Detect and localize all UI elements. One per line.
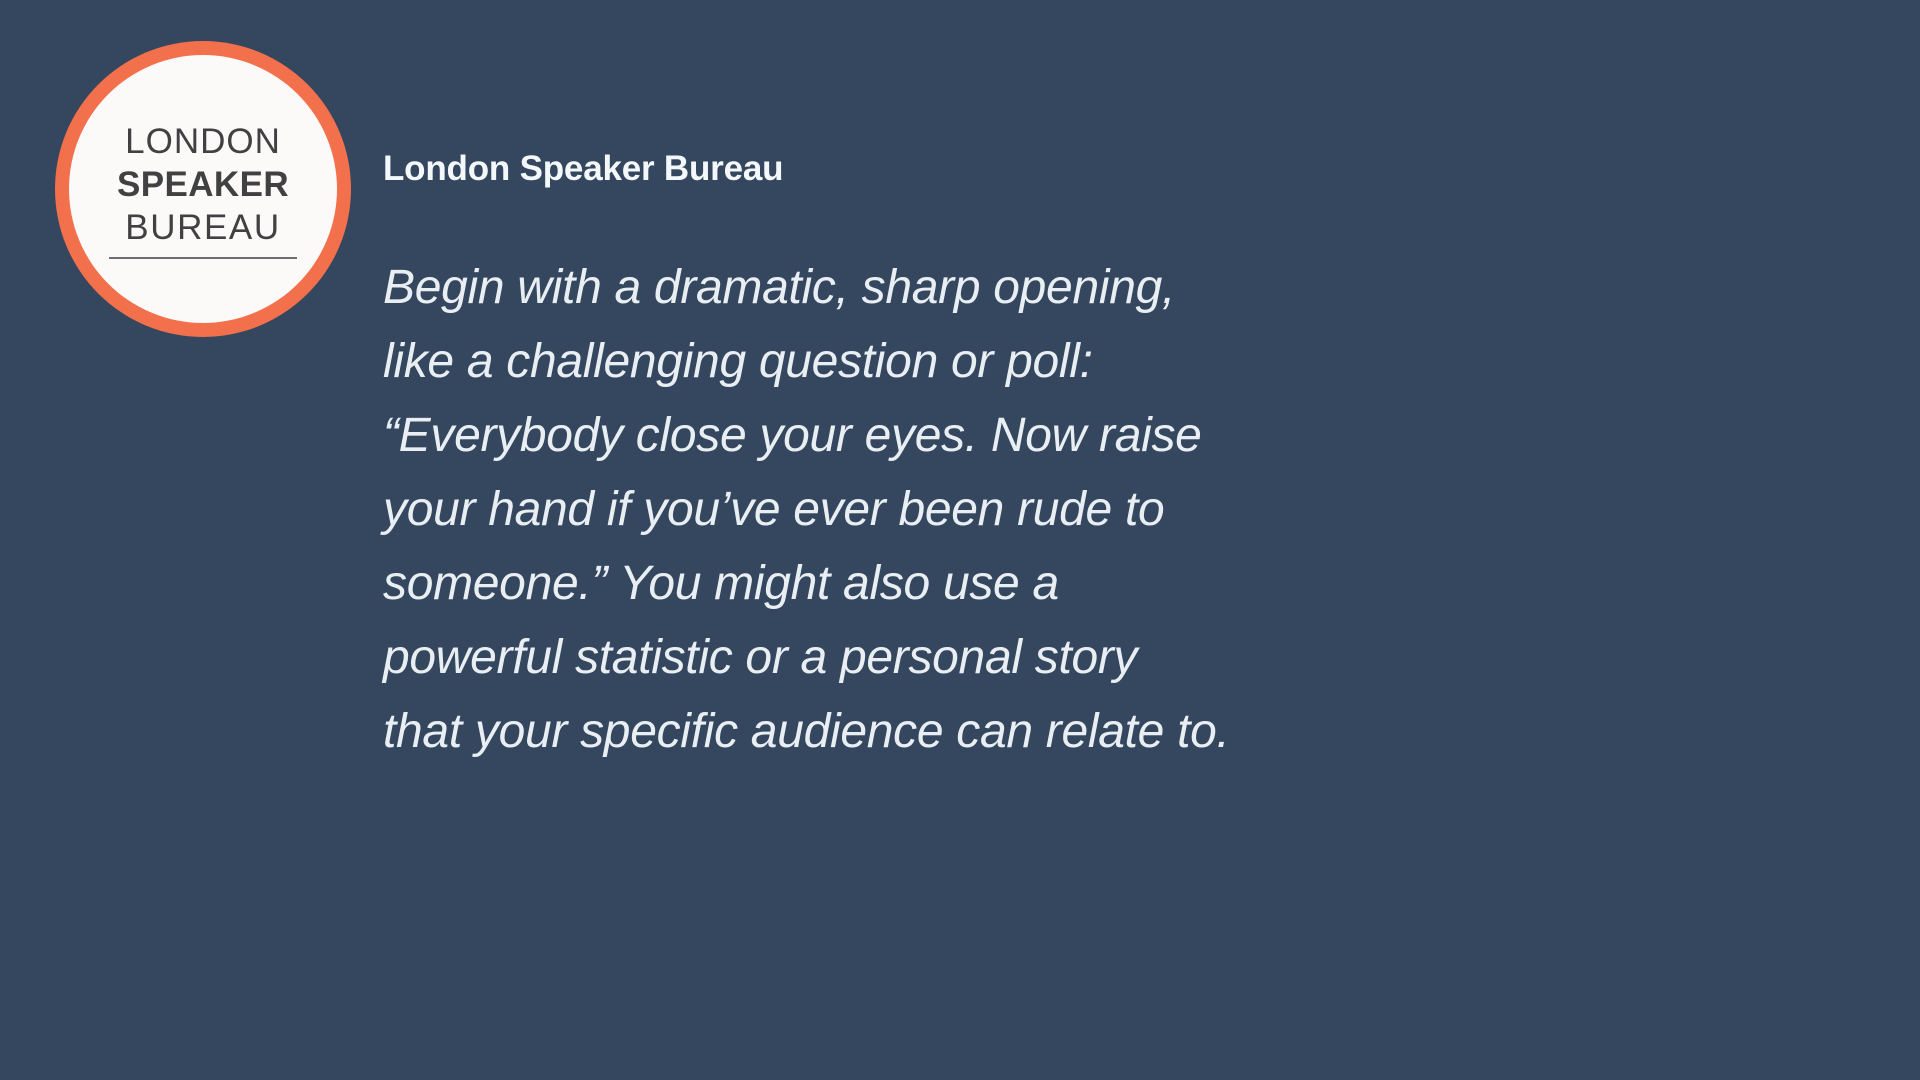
logo-text-london: LONDON (125, 124, 281, 159)
body-line: like a challenging question or poll: (383, 325, 1683, 399)
body-line: powerful statistic or a personal story (383, 621, 1683, 695)
body-paragraph: Begin with a dramatic, sharp opening, li… (383, 251, 1683, 769)
london-speaker-bureau-logo: LONDON SPEAKER BUREAU (55, 41, 351, 337)
body-line: “Everybody close your eyes. Now raise (383, 399, 1683, 473)
page-title: London Speaker Bureau (383, 150, 1683, 189)
body-line: someone.” You might also use a (383, 547, 1683, 621)
body-line: your hand if you’ve ever been rude to (383, 473, 1683, 547)
slide-canvas: LONDON SPEAKER BUREAU London Speaker Bur… (0, 0, 1920, 1080)
logo-divider-rule (109, 257, 297, 259)
body-line: that your specific audience can relate t… (383, 695, 1683, 769)
body-line: Begin with a dramatic, sharp opening, (383, 251, 1683, 325)
logo-text-bureau: BUREAU (125, 210, 280, 245)
logo-disc: LONDON SPEAKER BUREAU (69, 55, 337, 323)
logo-text-speaker: SPEAKER (117, 167, 289, 202)
content-column: London Speaker Bureau Begin with a drama… (383, 150, 1683, 769)
